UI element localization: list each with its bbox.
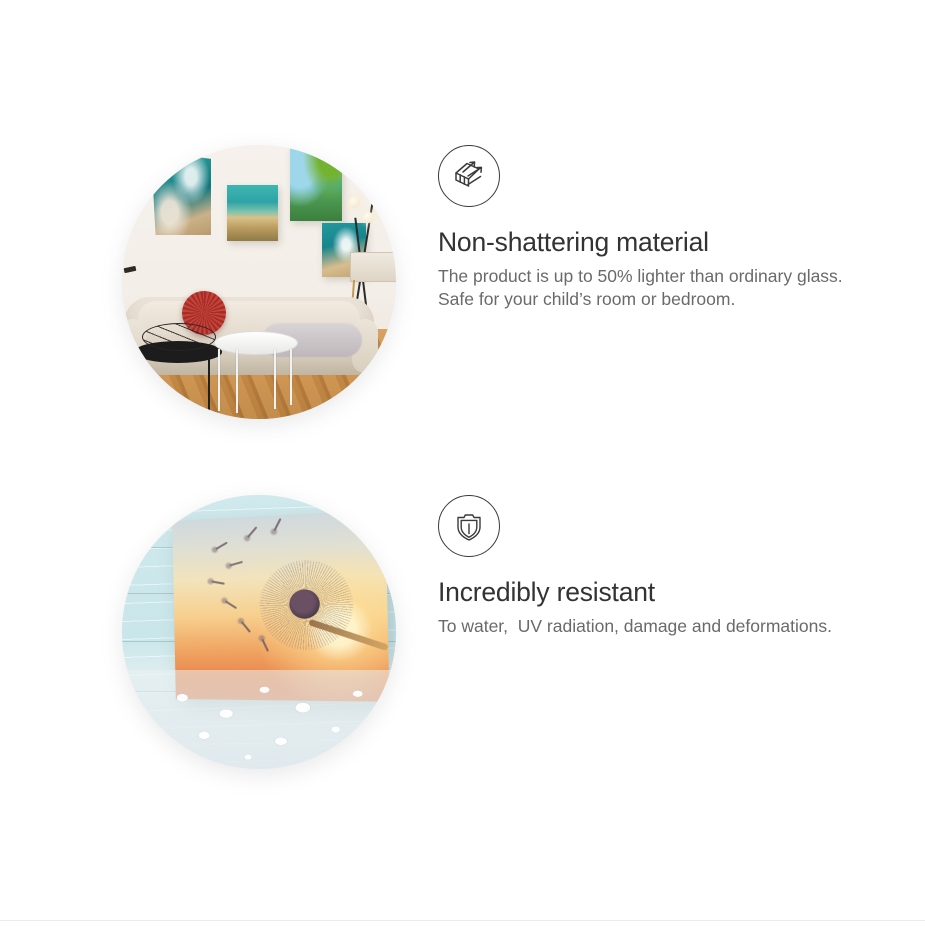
white-table-leg (236, 349, 238, 413)
dandelion-seed (211, 580, 224, 584)
wall-hook (124, 266, 137, 273)
dandelion-seed (215, 542, 228, 550)
white-table-leg (290, 349, 292, 405)
wall-art-beach-aerial (227, 185, 278, 241)
dandelion-seed (229, 561, 243, 567)
feature-text-column: Incredibly resistant To water, UV radiat… (438, 495, 878, 638)
sideboard-console (350, 252, 396, 282)
dandelion-seed (241, 621, 251, 633)
floor-lamp-bulb (349, 197, 360, 208)
wire-basket (142, 323, 216, 351)
room-scene (122, 145, 396, 419)
dandelion-glass-print-photo (122, 495, 396, 769)
wall-art-palm-lagoon (290, 145, 342, 221)
white-round-table (214, 331, 298, 355)
white-table-leg (274, 349, 276, 409)
feature-title: Non-shattering material (438, 227, 878, 259)
wall-art-ocean-wave (152, 154, 211, 235)
feature-title: Incredibly resistant (438, 577, 878, 609)
flexible-bending-material-glyph (449, 156, 489, 196)
dandelion-seed (247, 526, 257, 538)
white-table-leg (218, 349, 220, 411)
black-table-leg (144, 359, 146, 407)
bottom-divider (0, 920, 925, 921)
black-table-leg (208, 359, 210, 411)
dandelion-seed (273, 518, 281, 531)
water-droplets (122, 670, 396, 769)
flexible-bending-material-icon (438, 145, 500, 207)
dandelion-seed (225, 600, 237, 609)
living-room-with-wall-art-photo (122, 145, 396, 419)
dandelion-seed (261, 639, 269, 652)
feature-description: The product is up to 50% lighter than or… (438, 265, 866, 312)
blue-wood-background (122, 495, 396, 769)
shield-glyph (450, 507, 488, 545)
feature-text-column: Non-shattering material The product is u… (438, 145, 878, 311)
feature-description: To water, UV radiation, damage and defor… (438, 615, 866, 638)
shield-icon (438, 495, 500, 557)
product-features-page: Non-shattering material The product is u… (0, 0, 925, 927)
feature-image-wrapper (122, 495, 396, 769)
feature-image-wrapper (122, 145, 396, 419)
feature-block-incredibly-resistant: Incredibly resistant To water, UV radiat… (0, 495, 925, 815)
feature-block-non-shattering-material: Non-shattering material The product is u… (0, 145, 925, 465)
floor-lamp-bulb (363, 212, 374, 223)
